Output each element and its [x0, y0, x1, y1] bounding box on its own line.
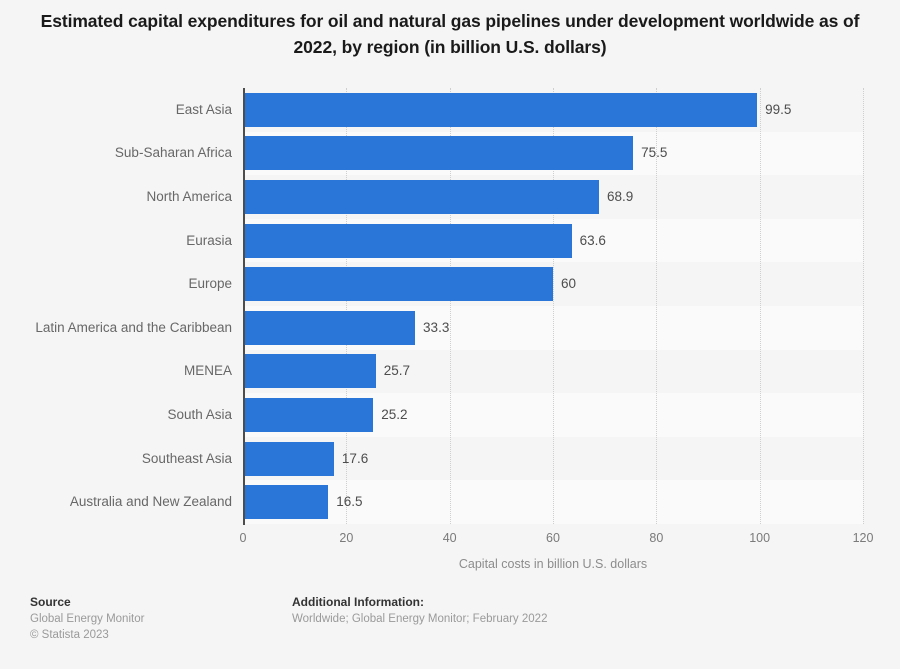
bar-value-label: 99.5 — [765, 93, 791, 127]
footer-info-column: Additional Information: Worldwide; Globa… — [292, 593, 547, 627]
category-label: East Asia — [7, 93, 232, 127]
x-tick-label: 120 — [853, 531, 874, 545]
chart-footer: Source Global Energy Monitor © Statista … — [0, 585, 900, 669]
category-label: Southeast Asia — [7, 442, 232, 476]
gridline-100 — [760, 88, 762, 524]
category-label: Sub-Saharan Africa — [7, 136, 232, 170]
bar-value-label: 63.6 — [580, 224, 606, 258]
footer-source-column: Source Global Energy Monitor © Statista … — [30, 593, 144, 643]
x-axis-ticks: 020406080100120 — [243, 524, 863, 548]
bar-value-label: 17.6 — [342, 442, 368, 476]
category-label: Europe — [7, 267, 232, 301]
x-axis-title: Capital costs in billion U.S. dollars — [243, 557, 863, 571]
x-tick-label: 20 — [339, 531, 353, 545]
x-tick-label: 60 — [546, 531, 560, 545]
bar[interactable] — [243, 354, 376, 388]
x-tick-label: 0 — [240, 531, 247, 545]
plot-area: 99.575.568.963.66033.325.725.217.616.5 — [243, 88, 863, 524]
bar[interactable] — [243, 485, 328, 519]
bar[interactable] — [243, 93, 757, 127]
bar-value-label: 33.3 — [423, 311, 449, 345]
category-label: MENEA — [7, 354, 232, 388]
chart-plot-wrapper: East AsiaSub-Saharan AfricaNorth America… — [0, 0, 900, 560]
bar-value-label: 68.9 — [607, 180, 633, 214]
bar[interactable] — [243, 398, 373, 432]
bar[interactable] — [243, 311, 415, 345]
x-tick-label: 40 — [443, 531, 457, 545]
bar-value-label: 60 — [561, 267, 576, 301]
footer-info-heading: Additional Information: — [292, 593, 547, 611]
bar-value-label: 25.2 — [381, 398, 407, 432]
category-label: Latin America and the Caribbean — [7, 311, 232, 345]
bar[interactable] — [243, 180, 599, 214]
category-label: North America — [7, 180, 232, 214]
x-tick-label: 80 — [649, 531, 663, 545]
bar[interactable] — [243, 136, 633, 170]
bar[interactable] — [243, 442, 334, 476]
category-label: Australia and New Zealand — [7, 485, 232, 519]
category-label: South Asia — [7, 398, 232, 432]
bar-value-label: 25.7 — [384, 354, 410, 388]
bar[interactable] — [243, 224, 572, 258]
footer-source-name: Global Energy Monitor — [30, 611, 144, 627]
footer-info-text: Worldwide; Global Energy Monitor; Februa… — [292, 611, 547, 627]
y-axis-line — [243, 88, 245, 525]
category-label: Eurasia — [7, 224, 232, 258]
footer-copyright: © Statista 2023 — [30, 627, 144, 643]
bar-value-label: 16.5 — [336, 485, 362, 519]
y-axis-category-labels: East AsiaSub-Saharan AfricaNorth America… — [0, 88, 232, 524]
footer-source-heading: Source — [30, 593, 144, 611]
x-tick-label: 100 — [749, 531, 770, 545]
gridline-120 — [863, 88, 865, 524]
bar[interactable] — [243, 267, 553, 301]
bar-value-label: 75.5 — [641, 136, 667, 170]
